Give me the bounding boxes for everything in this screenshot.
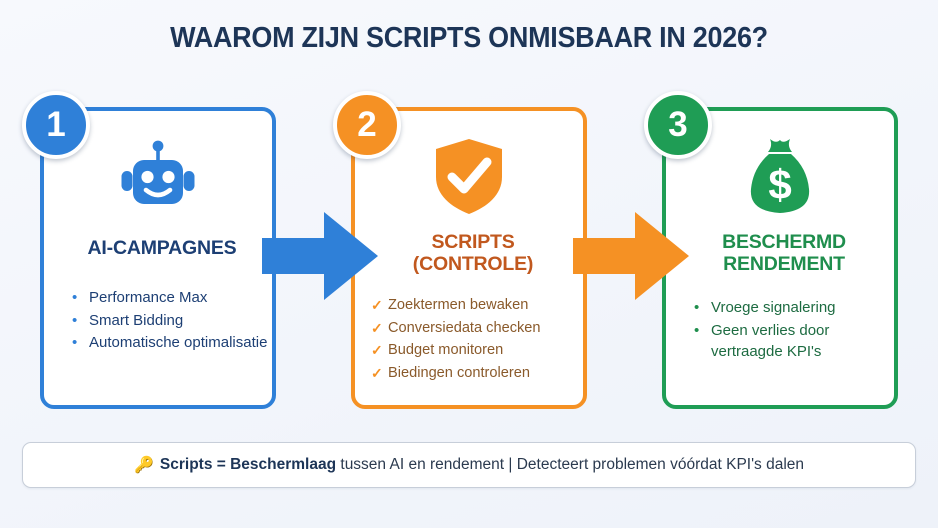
card-list-ai-campagnes: •Performance Max •Smart Bidding •Automat… <box>44 287 272 355</box>
list-item-label: Smart Bidding <box>89 312 183 329</box>
footer-strong-text: Scripts = Beschermlaag <box>160 456 336 473</box>
list-item: ✓Zoektermen bewaken <box>371 295 583 317</box>
list-item-label: Biedingen controleren <box>388 365 530 381</box>
infographic-canvas: WAAROM ZIJN SCRIPTS ONMISBAAR IN 2026? A… <box>0 0 938 528</box>
card-title-line-2: (CONTROLE) <box>363 253 583 275</box>
key-icon: 🔑 <box>134 457 154 474</box>
card-title-line-2: RENDEMENT <box>674 253 894 275</box>
list-item-label: Vroege signalering <box>711 299 836 316</box>
list-item-label: Automatische optimalisatie <box>89 334 267 351</box>
check-icon: ✓ <box>371 318 383 340</box>
card-title-ai-campagnes: AI-CAMPAGNES <box>52 237 272 259</box>
arrow-step-1-to-2-icon <box>262 212 378 300</box>
footer-rest-text: tussen AI en rendement | Detecteert prob… <box>336 456 804 473</box>
check-icon: ✓ <box>371 340 383 362</box>
step-badge-2: 2 <box>333 91 401 159</box>
arrow-step-2-to-3-icon <box>573 212 689 300</box>
card-title-line-1: SCRIPTS <box>363 231 583 253</box>
check-icon: ✓ <box>371 363 383 385</box>
card-title-scripts-controle: SCRIPTS (CONTROLE) <box>363 231 583 275</box>
list-item: •Geen verlies door vertraagde KPI's <box>694 320 894 363</box>
list-item-label: Performance Max <box>89 289 207 306</box>
list-item: ✓Biedingen controleren <box>371 363 583 385</box>
cards-row: AI-CAMPAGNES •Performance Max •Smart Bid… <box>0 107 938 417</box>
list-item-label: Conversiedata checken <box>388 320 541 336</box>
step-badge-1: 1 <box>22 91 90 159</box>
list-item: ✓Budget monitoren <box>371 340 583 362</box>
footer-banner: 🔑Scripts = Beschermlaag tussen AI en ren… <box>22 442 916 488</box>
list-item: ✓Conversiedata checken <box>371 318 583 340</box>
svg-text:$: $ <box>768 161 791 208</box>
list-item: •Smart Bidding <box>72 310 272 332</box>
footer-text: 🔑Scripts = Beschermlaag tussen AI en ren… <box>134 455 804 475</box>
card-title-beschermd-rendement: BESCHERMD RENDEMENT <box>674 231 894 275</box>
list-item: •Automatische optimalisatie <box>72 332 272 354</box>
bullet-icon: • <box>694 297 699 319</box>
bullet-icon: • <box>72 287 77 309</box>
list-item: •Performance Max <box>72 287 272 309</box>
card-title-line-1: BESCHERMD <box>674 231 894 253</box>
bullet-icon: • <box>72 310 77 332</box>
list-item-label: Geen verlies door vertraagde KPI's <box>711 322 829 361</box>
card-list-beschermd-rendement: •Vroege signalering •Geen verlies door v… <box>666 297 894 364</box>
list-item-label: Budget monitoren <box>388 342 503 358</box>
step-badge-3: 3 <box>644 91 712 159</box>
list-item: •Vroege signalering <box>694 297 894 319</box>
bullet-icon: • <box>72 332 77 354</box>
card-list-scripts-controle: ✓Zoektermen bewaken ✓Conversiedata check… <box>355 295 583 385</box>
list-item-label: Zoektermen bewaken <box>388 297 528 313</box>
bullet-icon: • <box>694 320 699 342</box>
page-title: WAAROM ZIJN SCRIPTS ONMISBAAR IN 2026? <box>33 22 905 55</box>
